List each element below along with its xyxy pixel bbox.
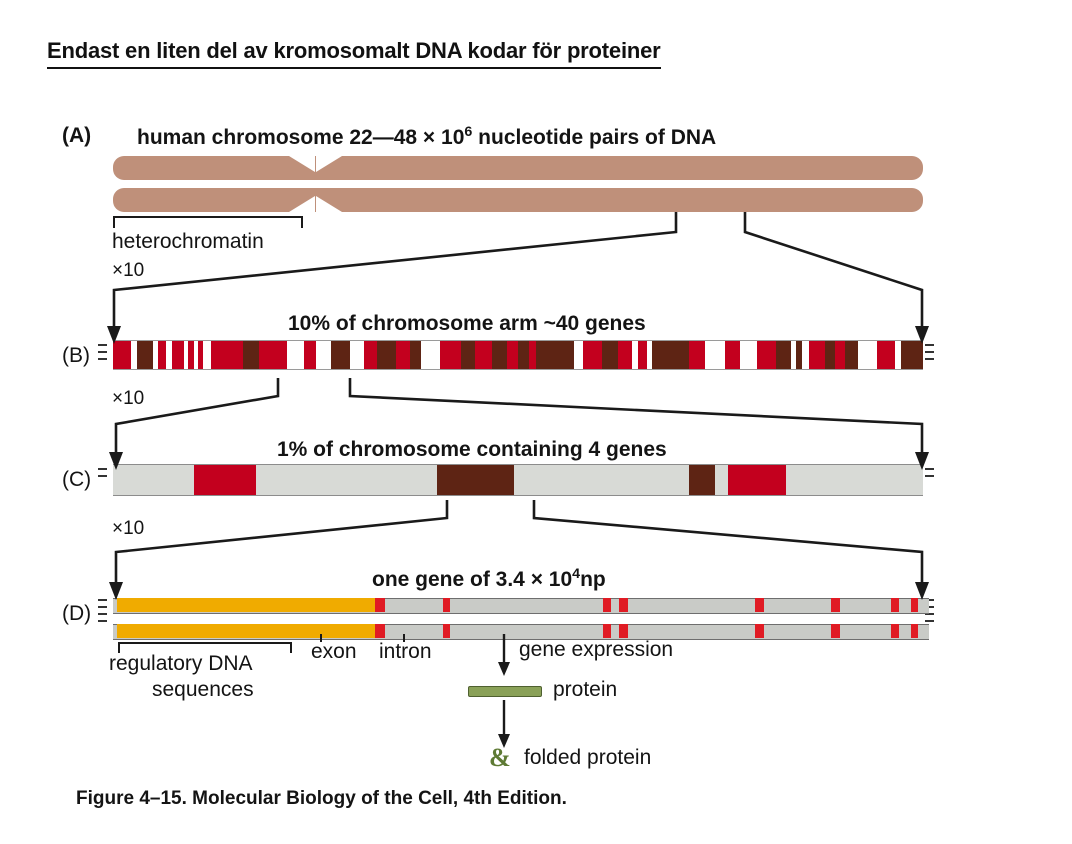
regulatory-dna-region [117, 624, 375, 638]
chromosome-band [475, 341, 493, 369]
zoom-label-b-to-c: ×10 [112, 388, 144, 410]
exon-marker [891, 598, 899, 612]
chromosome-band [518, 341, 528, 369]
chromosome-band [776, 341, 791, 369]
sister-chromatid-bottom [113, 188, 923, 212]
chromosome-band [507, 341, 519, 369]
chromosome-band [689, 341, 705, 369]
exon-marker [619, 598, 628, 612]
chromosome-gene-segment [728, 465, 786, 495]
panel-b-heading: 10% of chromosome arm ~40 genes [288, 312, 646, 336]
exon-marker [375, 624, 385, 638]
panel-b-right-edge-ticks [925, 344, 934, 365]
chromosome-band [845, 341, 858, 369]
heterochromatin-label: heterochromatin [112, 230, 264, 254]
chromosome-band [131, 341, 138, 369]
exon-marker [891, 624, 899, 638]
panel-d-heading-pre: one gene of 3.4 × 10 [372, 568, 572, 591]
chromosome-band [583, 341, 602, 369]
regulatory-dna-region [117, 598, 375, 612]
chromosome-band [574, 341, 583, 369]
chromosome-band [809, 341, 825, 369]
panel-a-heading: human chromosome 22—48 × 106 nucleotide … [137, 124, 716, 150]
figure-caption: Figure 4–15. Molecular Biology of the Ce… [76, 788, 567, 810]
chromosome-band [638, 341, 647, 369]
exon-marker [831, 598, 840, 612]
chromosome-band [364, 341, 376, 369]
chromosome-gene-segment [786, 465, 923, 495]
panel-b-tag: (B) [62, 344, 90, 368]
panel-d-heading-exponent: 4 [572, 566, 580, 582]
chromosome-band [825, 341, 835, 369]
gene-double-strand [113, 598, 929, 638]
chromosome-gene-segment [437, 465, 514, 495]
chromosome-band [243, 341, 259, 369]
chromosome-gene-segment [194, 465, 256, 495]
dna-strand-separator [113, 616, 929, 620]
exon-marker [443, 624, 450, 638]
chromosome-band [172, 341, 184, 369]
chromosome-band [802, 341, 809, 369]
chromosome-band [410, 341, 420, 369]
gene-expression-label: gene expression [519, 638, 673, 662]
chromosome-band [316, 341, 331, 369]
exon-marker [375, 598, 385, 612]
exon-marker [619, 624, 628, 638]
zoom-label-c-to-d: ×10 [112, 518, 144, 540]
chromosome-band [331, 341, 350, 369]
chromosome-band [740, 341, 758, 369]
panel-d-heading-post: np [580, 568, 606, 591]
exon-marker [603, 598, 611, 612]
centromere-pinch-right [316, 156, 342, 212]
panel-a-heading-post: nucleotide pairs of DNA [472, 126, 716, 149]
regulatory-dna-label-line1: regulatory DNA [109, 652, 253, 676]
exon-label: exon [311, 640, 357, 664]
chromosome-band [492, 341, 507, 369]
chromosome-band [725, 341, 740, 369]
panel-d-tag: (D) [62, 602, 91, 626]
chromosome-band [113, 341, 131, 369]
chromosome-gene-segment [113, 465, 194, 495]
chromosome-band [652, 341, 689, 369]
chromosome-gene-segment [715, 465, 729, 495]
chromosome-band [287, 341, 305, 369]
intron-label: intron [379, 640, 432, 664]
chromosome-band [350, 341, 365, 369]
chromosome-band [421, 341, 440, 369]
chromosome-band [158, 341, 165, 369]
chromosome-gene-segment [256, 465, 437, 495]
heterochromatin-bracket [113, 216, 303, 228]
exon-marker [443, 598, 450, 612]
folded-protein-label: folded protein [524, 746, 651, 770]
chromosome-band [835, 341, 845, 369]
chromosome-band [396, 341, 411, 369]
centromere-pinch-left [289, 156, 315, 212]
panel-c-heading: 1% of chromosome containing 4 genes [277, 438, 667, 462]
panel-c-tag: (C) [62, 468, 91, 492]
chromosome-gene-segment [514, 465, 689, 495]
chromosome-band [536, 341, 574, 369]
chromosome-band [461, 341, 474, 369]
chromosome-band [877, 341, 895, 369]
protein-bar [468, 686, 542, 697]
chromosome-band [440, 341, 462, 369]
chromosome-band [203, 341, 211, 369]
chromosome-band [137, 341, 153, 369]
chromosome-band [304, 341, 316, 369]
chromosome-band [901, 341, 923, 369]
exon-marker [603, 624, 611, 638]
panel-d-heading: one gene of 3.4 × 104np [372, 566, 606, 592]
panel-d-left-edge-ticks [98, 599, 107, 627]
chromosome-band [259, 341, 287, 369]
exon-marker [831, 624, 840, 638]
chromosome-band [757, 341, 776, 369]
panel-b-left-edge-ticks [98, 344, 107, 365]
chromosome-band [211, 341, 243, 369]
folded-protein-icon: & [489, 743, 511, 773]
protein-label: protein [553, 678, 617, 702]
chromosome-band [166, 341, 173, 369]
chromosome-band [529, 341, 536, 369]
chromosome-band-track [113, 340, 923, 370]
chromosome-gene-segment [689, 465, 715, 495]
exon-marker [911, 598, 918, 612]
sister-chromatid-top [113, 156, 923, 180]
chromosome-band [618, 341, 633, 369]
panel-c-left-edge-ticks [98, 468, 107, 482]
figure-page: Endast en liten del av kromosomalt DNA k… [0, 0, 1072, 844]
chromosome-band [705, 341, 725, 369]
exon-marker [755, 624, 764, 638]
zoom-label-a-to-b: ×10 [112, 260, 144, 282]
chromosome-graphic [113, 156, 923, 212]
chromosome-band [602, 341, 618, 369]
chromosome-band [377, 341, 396, 369]
panel-a-tag: (A) [62, 124, 91, 148]
panel-c-right-edge-ticks [925, 468, 934, 482]
exon-marker [911, 624, 918, 638]
panel-a-heading-pre: human chromosome 22—48 × 10 [137, 126, 464, 149]
page-title: Endast en liten del av kromosomalt DNA k… [47, 38, 661, 69]
regulatory-dna-label-line2: sequences [152, 678, 254, 702]
chromosome-band [858, 341, 877, 369]
exon-marker [755, 598, 764, 612]
chromosome-segment-track [113, 464, 923, 496]
